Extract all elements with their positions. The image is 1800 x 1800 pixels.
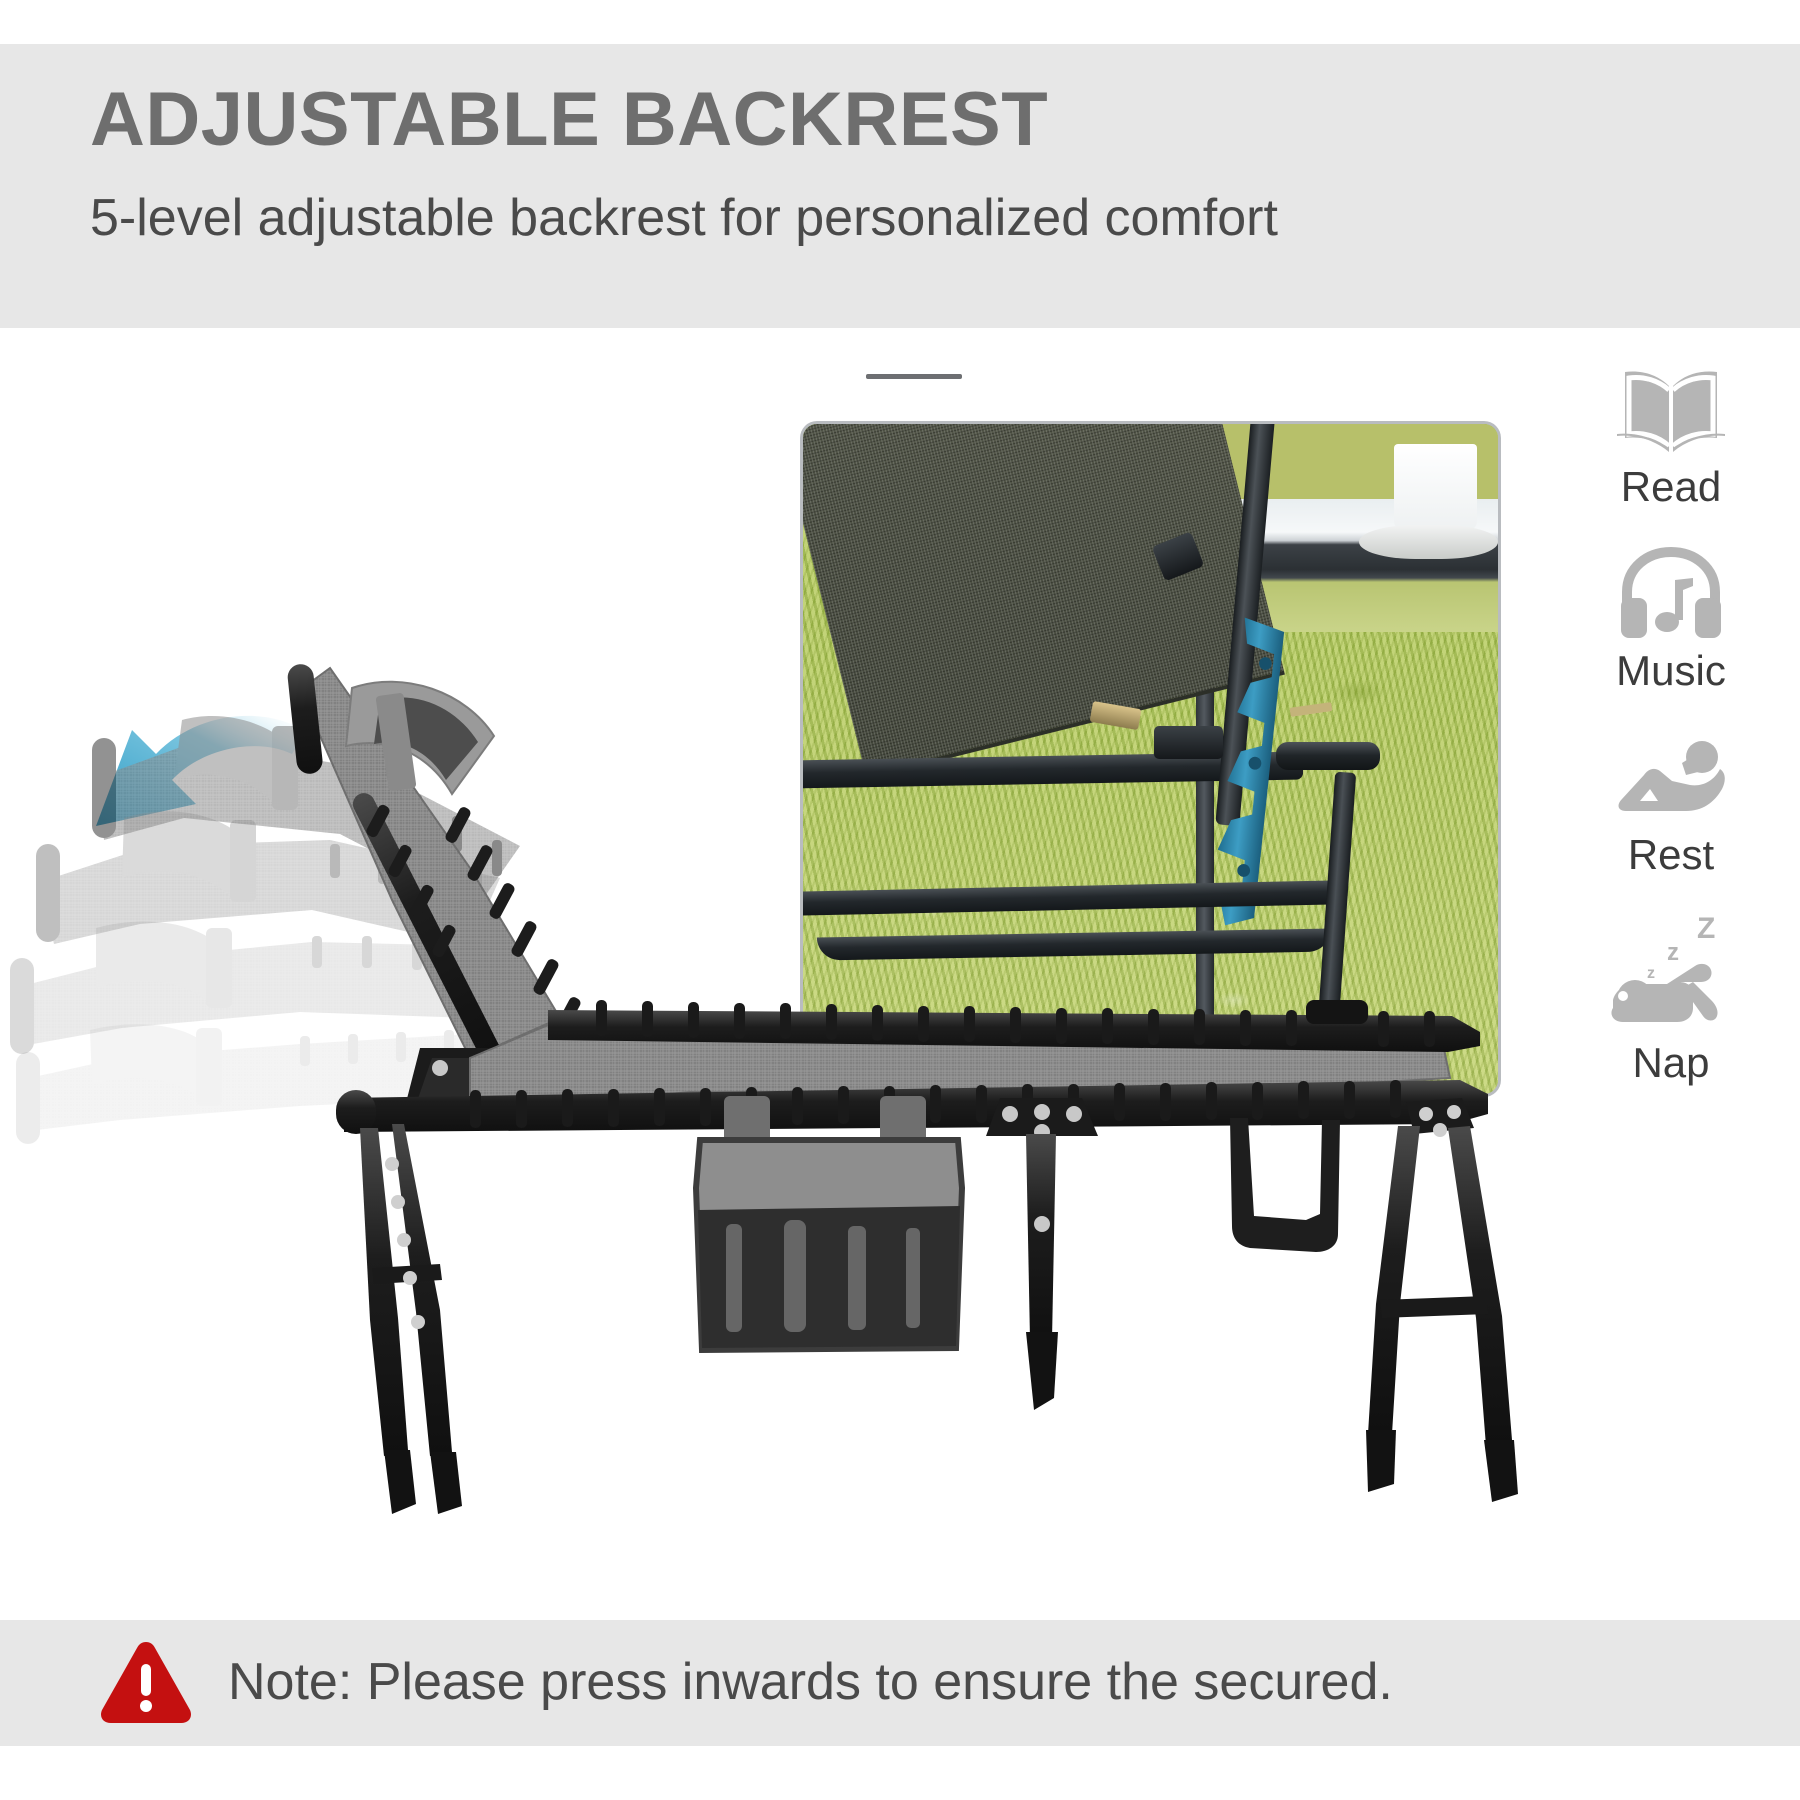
page-subtitle: 5-level adjustable backrest for personal… bbox=[90, 192, 1278, 244]
sleeping-person-zzz-icon: Z z z bbox=[1556, 910, 1786, 1038]
feature-label: Music bbox=[1556, 650, 1786, 692]
side-storage-pocket bbox=[696, 1096, 962, 1350]
feature-label: Rest bbox=[1556, 834, 1786, 876]
reclining-person-icon bbox=[1556, 726, 1786, 830]
photo-coffee-cup bbox=[1394, 444, 1477, 531]
headphones-music-icon bbox=[1556, 542, 1786, 646]
open-book-icon bbox=[1556, 358, 1786, 462]
inset-dash-marker bbox=[866, 374, 962, 379]
warning-triangle-icon bbox=[98, 1638, 194, 1726]
page-title: ADJUSTABLE BACKREST bbox=[90, 82, 1048, 158]
feature-icon-list: Read Music bbox=[1556, 358, 1786, 1094]
footer-note-band: Note: Please press inwards to ensure the… bbox=[0, 1620, 1800, 1746]
svg-text:Z: Z bbox=[1697, 912, 1715, 945]
product-illustration-chaise-lounge bbox=[0, 628, 1560, 1628]
photo-saucer bbox=[1359, 525, 1498, 560]
svg-text:z: z bbox=[1647, 965, 1655, 982]
feature-item-music: Music bbox=[1556, 542, 1786, 710]
footer-note-text: Note: Please press inwards to ensure the… bbox=[228, 1644, 1393, 1720]
feature-item-read: Read bbox=[1556, 358, 1786, 526]
main-stage: Read Music bbox=[0, 328, 1800, 1620]
svg-text:z: z bbox=[1667, 939, 1679, 966]
feature-item-rest: Rest bbox=[1556, 726, 1786, 894]
feature-label: Nap bbox=[1556, 1042, 1786, 1084]
feature-label: Read bbox=[1556, 466, 1786, 508]
feature-item-nap: Z z z Nap bbox=[1556, 910, 1786, 1078]
header-band: ADJUSTABLE BACKREST 5-level adjustable b… bbox=[0, 44, 1800, 328]
